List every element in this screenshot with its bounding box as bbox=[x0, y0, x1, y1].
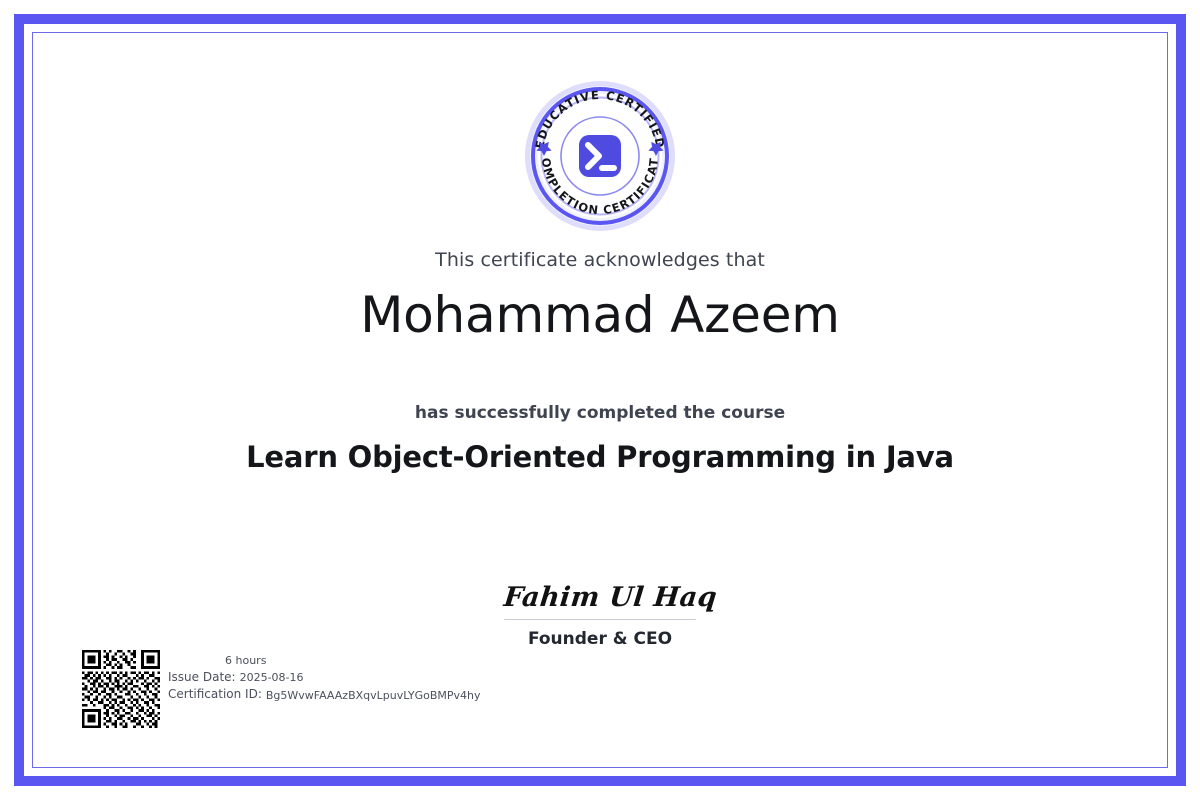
certificate-content: EDUCATIVE CERTIFIED COMPLETION CERTIFICA… bbox=[33, 33, 1167, 767]
certificate-inner-border: EDUCATIVE CERTIFIED COMPLETION CERTIFICA… bbox=[32, 32, 1168, 768]
signature-divider bbox=[504, 619, 696, 620]
terminal-prompt-icon bbox=[579, 135, 621, 177]
qr-code[interactable] bbox=[82, 650, 160, 728]
acknowledgement-text: This certificate acknowledges that bbox=[33, 249, 1167, 271]
badge-seal-icon: EDUCATIVE CERTIFIED COMPLETION CERTIFICA… bbox=[524, 80, 676, 232]
signature-block: Fahim Ul Haq Founder & CEO bbox=[504, 581, 696, 649]
signature-role: Founder & CEO bbox=[504, 629, 696, 649]
issue-date-row: Issue Date: 2025-08-16 bbox=[168, 669, 481, 686]
certification-id-value: Bg5WvwFAAAzBXqvLpuvLYGoBMPv4hy bbox=[266, 688, 481, 704]
certificate-footer: 6 hours Issue Date: 2025-08-16 Certifica… bbox=[82, 650, 481, 728]
certification-id-row: Certification ID: Bg5WvwFAAAzBXqvLpuvLYG… bbox=[168, 686, 481, 703]
recipient-name: Mohammad Azeem bbox=[33, 285, 1167, 345]
certificate-badge: EDUCATIVE CERTIFIED COMPLETION CERTIFICA… bbox=[33, 80, 1167, 232]
certificate-meta: 6 hours Issue Date: 2025-08-16 Certifica… bbox=[168, 650, 481, 704]
certificate-outer-border: EDUCATIVE CERTIFIED COMPLETION CERTIFICA… bbox=[14, 14, 1186, 786]
certification-id-label: Certification ID: bbox=[168, 686, 262, 703]
issue-date-label: Issue Date: bbox=[168, 669, 236, 686]
course-title: Learn Object-Oriented Programming in Jav… bbox=[33, 440, 1167, 474]
certificate-page: EDUCATIVE CERTIFIED COMPLETION CERTIFICA… bbox=[0, 0, 1200, 800]
course-duration: 6 hours bbox=[225, 654, 481, 669]
signature-name: Fahim Ul Haq bbox=[502, 581, 698, 615]
completion-text: has successfully completed the course bbox=[33, 403, 1167, 423]
issue-date-value: 2025-08-16 bbox=[240, 670, 304, 686]
